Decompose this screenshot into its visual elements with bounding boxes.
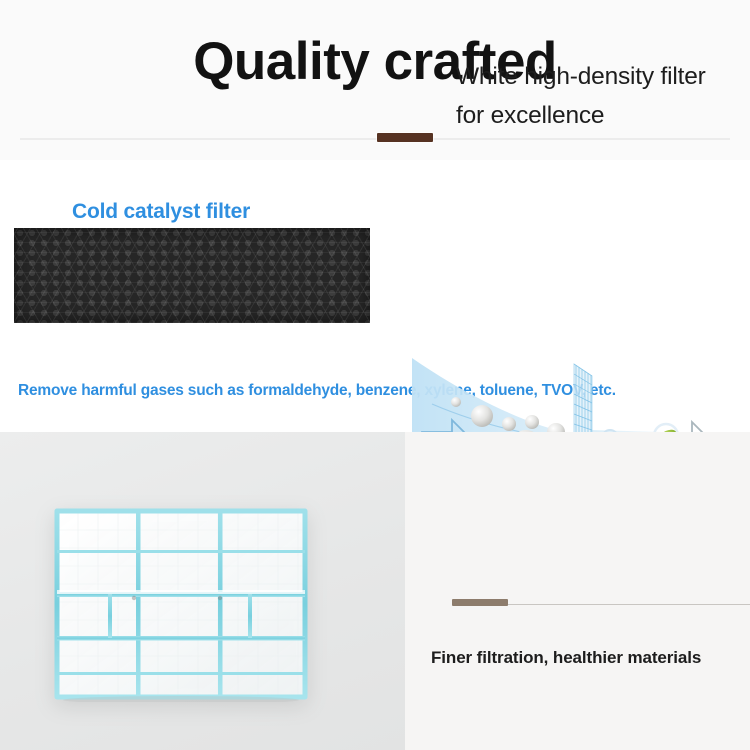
product-feature-page: Quality crafted Cold catalyst filter Rem… [0,0,750,750]
white-filter-heading-line2: for excellence [456,97,736,136]
white-filter-heading: White high-density filter for excellence [456,58,736,135]
white-high-density-mesh-filter-image [52,506,310,702]
product-image-panel [0,432,405,750]
header-divider [20,138,730,140]
white-filter-text-panel [405,432,750,750]
white-filter-heading-line1: White high-density filter [456,58,736,97]
white-filter-section [0,432,750,750]
white-filter-accent-bar [452,599,508,606]
cold-catalyst-section: Cold catalyst filter Remove harmful gase… [0,160,750,432]
header-accent-bar [377,133,433,142]
charcoal-honeycomb-filter-image [14,228,370,323]
white-filter-subtext: Finer filtration, healthier materials [431,648,701,668]
cold-catalyst-title: Cold catalyst filter [72,200,250,224]
